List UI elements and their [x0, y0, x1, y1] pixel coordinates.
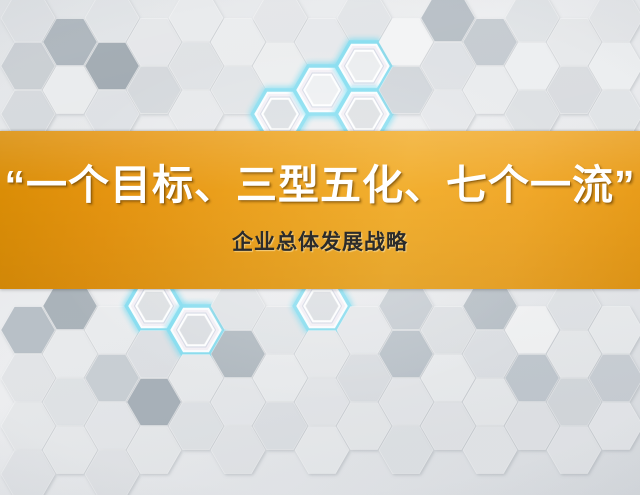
banner-sheen: [0, 131, 640, 289]
title-banner: “一个目标、三型五化、七个一流” 企业总体发展战略: [0, 131, 640, 289]
presentation-slide: “一个目标、三型五化、七个一流” 企业总体发展战略: [0, 0, 640, 495]
page-title: “一个目标、三型五化、七个一流”: [0, 165, 640, 206]
page-subtitle: 企业总体发展战略: [0, 232, 640, 253]
